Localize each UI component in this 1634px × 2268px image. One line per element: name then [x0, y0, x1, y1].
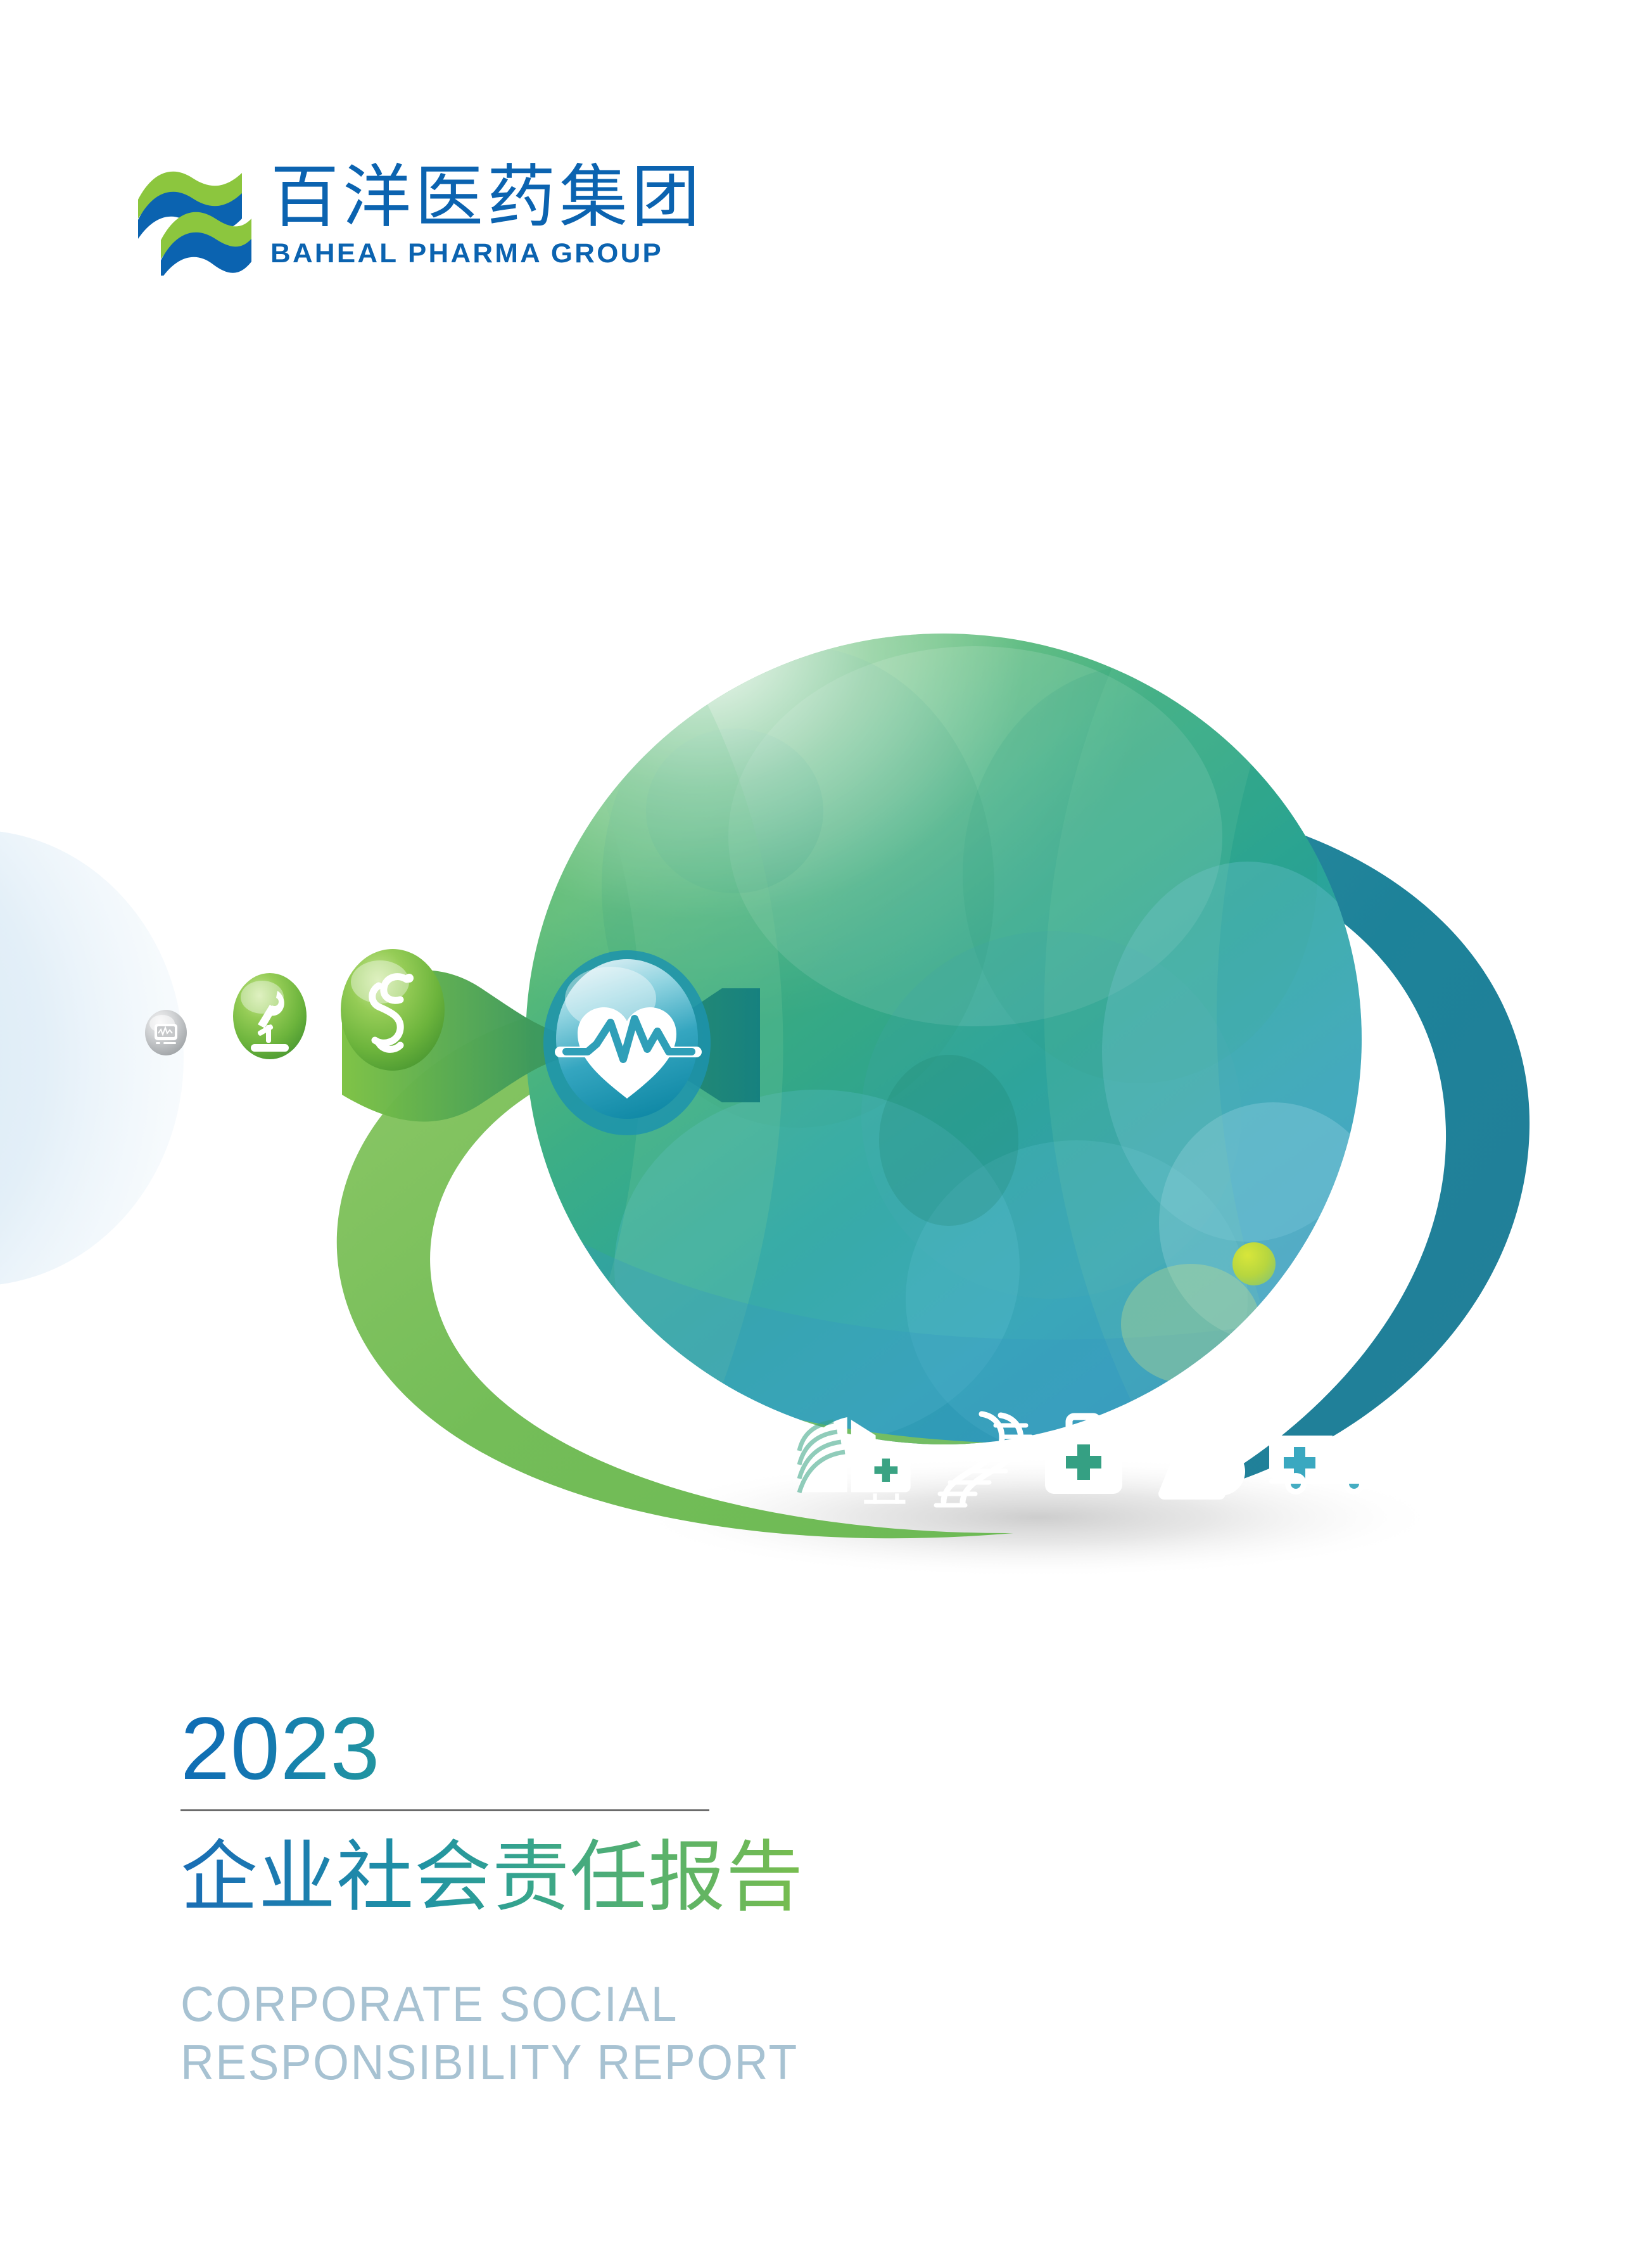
- logo-company-name-cn: 百洋医药集团: [270, 163, 663, 231]
- logo-company-name-en: BAHEAL PHARMA GROUP: [270, 240, 671, 267]
- cover-title-block: 2023 企业社会责任报告 CORPORATE SOCIAL RESPONSIB…: [180, 1704, 940, 2091]
- heartbeat-sphere: [543, 950, 711, 1135]
- report-year: 2023: [180, 1704, 380, 1793]
- lab-flasks-icon: [1158, 1408, 1245, 1500]
- logo-wordmark: 百洋医药集团 BAHEAL PHARMA GROUP: [270, 163, 663, 267]
- accent-dot: [1232, 1242, 1276, 1285]
- company-logo: 百洋医药集团 BAHEAL PHARMA GROUP: [134, 162, 666, 282]
- report-subtitle-en: CORPORATE SOCIAL RESPONSIBILITY REPORT: [180, 1975, 895, 2091]
- hero-illustration: [0, 481, 1634, 1647]
- subtitle-line-2: RESPONSIBILITY REPORT: [180, 2033, 895, 2091]
- baheal-wave-mark-icon: [134, 162, 251, 276]
- subtitle-line-1: CORPORATE SOCIAL: [180, 1975, 895, 2033]
- report-title-cn: 企业社会责任报告: [180, 1833, 804, 1923]
- microscope-sphere: [233, 973, 307, 1059]
- title-divider: [180, 1809, 709, 1811]
- report-cover-page: 百洋医药集团 BAHEAL PHARMA GROUP: [0, 0, 1634, 2268]
- caduceus-sphere: [341, 949, 445, 1071]
- left-halo-shape: [0, 830, 184, 1286]
- monitor-sphere: [145, 1010, 187, 1055]
